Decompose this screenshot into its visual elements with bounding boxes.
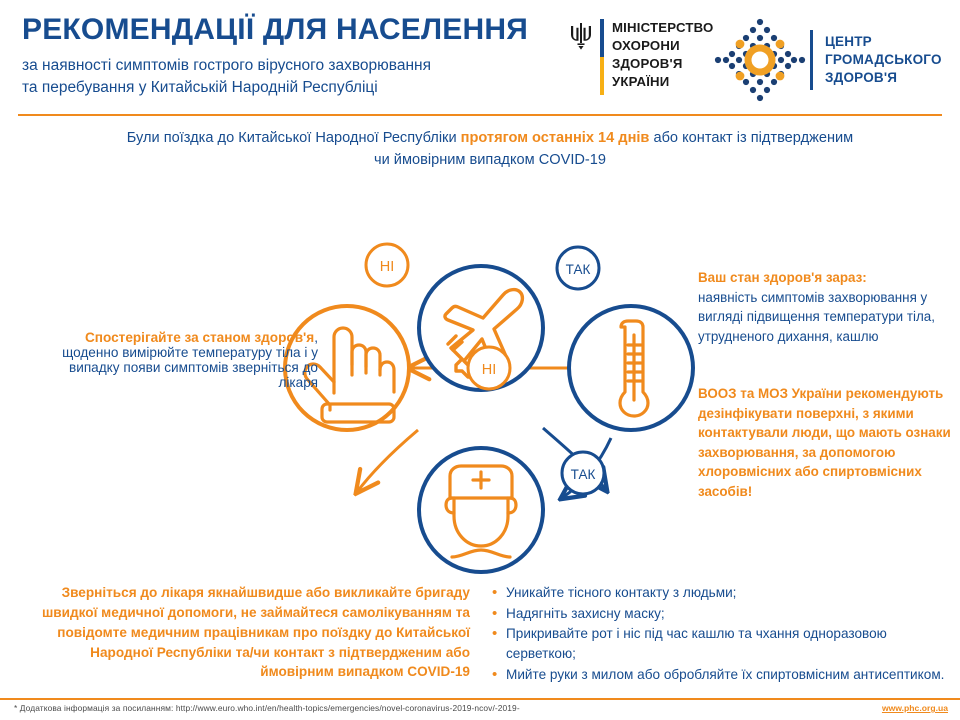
list-item: Мийте руки з милом або обробляйте їх спи… [492, 665, 952, 685]
badge-tak-label-2: ТАК [571, 467, 596, 482]
badge-ni-label-1: НІ [380, 259, 395, 275]
dot-diamond-logo-icon [712, 16, 808, 104]
badge-tak-thermometer-doctor: ТАК [562, 452, 604, 494]
subtitle-line-2: та перебування у Китайській Народній Рес… [22, 77, 562, 99]
subtitle-line-1: за наявності симптомів гострого вірусног… [22, 55, 562, 77]
page-title: РЕКОМЕНДАЦІЇ ДЛЯ НАСЕЛЕННЯ [22, 14, 562, 46]
current-health-text: Ваш стан здоров'я зараз:наявність симпто… [698, 268, 950, 346]
ministry-of-health-logo: МІНІСТЕРСТВО ОХОРОНИ ЗДОРОВ'Я УКРАЇНИ [568, 19, 713, 95]
logo-divider [810, 30, 813, 90]
list-item: Прикривайте рот і ніс під час кашлю та ч… [492, 624, 952, 663]
cph-logo-text: ЦЕНТР ГРОМАДСЬКОГО ЗДОРОВ'Я [825, 33, 942, 87]
watch-health-text: Спостерігайте за станом здоров'я, щоденн… [38, 330, 318, 390]
public-health-center-logo: ЦЕНТР ГРОМАДСЬКОГО ЗДОРОВ'Я [712, 16, 942, 104]
cph-line-1: ЦЕНТР [825, 33, 942, 51]
subtitle: за наявності симптомів гострого вірусног… [22, 55, 562, 99]
prevention-tips-list: Уникайте тісного контакту з людьми; Надя… [492, 583, 952, 686]
question-highlight: протягом останніх 14 днів [461, 130, 650, 146]
watch-health-emphasis: Спостерігайте за станом здоров'я [85, 330, 314, 345]
node-thermometer[interactable] [569, 306, 693, 430]
badge-ni-airplane-hand: НІ [366, 244, 408, 286]
edge-airplane-to-hand [357, 430, 418, 492]
badge-tak-airplane-thermometer: ТАК [557, 247, 599, 289]
title-block: РЕКОМЕНДАЦІЇ ДЛЯ НАСЕЛЕННЯ за наявності … [22, 14, 562, 99]
ministry-line-3: ЗДОРОВ'Я [612, 55, 713, 73]
list-item: Уникайте тісного контакту з людьми; [492, 583, 952, 603]
infographic-page: РЕКОМЕНДАЦІЇ ДЛЯ НАСЕЛЕННЯ за наявності … [0, 0, 960, 720]
ministry-line-4: УКРАЇНИ [612, 73, 713, 91]
header-divider-rule [18, 114, 942, 116]
who-recommendation-text: ВООЗ та МОЗ України рекомендують дезінфі… [698, 384, 952, 501]
ministry-line-1: МІНІСТЕРСТВО [612, 19, 713, 37]
prevention-bullets: Уникайте тісного контакту з людьми; Надя… [492, 583, 952, 685]
footer-note: * Додаткова інформація за посиланням: ht… [14, 703, 520, 713]
cph-line-2: ГРОМАДСЬКОГО [825, 51, 942, 69]
node-doctor[interactable] [419, 448, 543, 572]
footer-website-link[interactable]: www.phc.org.ua [882, 703, 948, 713]
badge-ni-thermometer-hand: НІ [468, 347, 510, 389]
footer-divider-rule [0, 698, 960, 700]
current-health-rest: наявність симптомів захворювання у вигля… [698, 290, 935, 344]
badge-tak-label-1: ТАК [566, 262, 591, 277]
current-health-emphasis: Ваш стан здоров'я зараз: [698, 270, 867, 285]
list-item: Надягніть захисну маску; [492, 604, 952, 624]
see-doctor-text: Зверніться до лікаря якнайшвидше або вик… [18, 583, 470, 682]
cph-line-3: ЗДОРОВ'Я [825, 69, 942, 87]
badge-ni-label-2: НІ [482, 362, 497, 378]
ministry-logo-text: МІНІСТЕРСТВО ОХОРОНИ ЗДОРОВ'Я УКРАЇНИ [612, 19, 713, 91]
header: РЕКОМЕНДАЦІЇ ДЛЯ НАСЕЛЕННЯ за наявності … [0, 0, 960, 115]
question-part-1: Були поїздка до Китайської Народної Респ… [127, 130, 461, 146]
ministry-line-2: ОХОРОНИ [612, 37, 713, 55]
flag-divider [600, 19, 604, 95]
trident-icon [568, 21, 594, 51]
